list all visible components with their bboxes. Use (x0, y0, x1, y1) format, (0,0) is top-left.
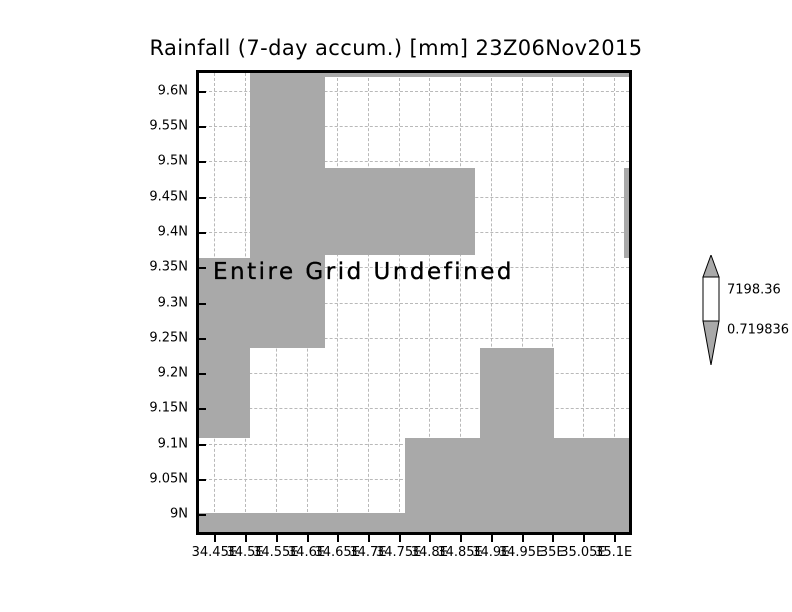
y-axis-tick-label: 9.55N (149, 118, 188, 133)
x-axis-tick (337, 535, 339, 542)
masked-cell-block (199, 258, 325, 348)
colorbar: 7198.36 0.719836 (698, 255, 792, 365)
y-axis-tick-label: 9.05N (149, 472, 188, 487)
y-axis-tick-label: 9.5N (158, 154, 188, 169)
y-axis-tick-label: 9.1N (158, 436, 188, 451)
gridline-horizontal (199, 373, 629, 374)
gridline-horizontal (199, 408, 629, 409)
masked-cell-block (199, 348, 250, 438)
y-axis-tick (199, 91, 206, 93)
plot-canvas: Entire Grid Undefined (199, 73, 629, 532)
y-axis-tick-label: 9.2N (158, 366, 188, 381)
y-axis-labels: 9.6N9.55N9.5N9.45N9.4N9.35N9.3N9.25N9.2N… (110, 70, 188, 535)
y-axis-tick (199, 303, 206, 305)
colorbar-high-label: 7198.36 (727, 283, 781, 298)
x-axis-tick (552, 535, 554, 542)
y-axis-tick-label: 9.3N (158, 295, 188, 310)
masked-cell-block (405, 438, 632, 532)
x-axis-tick (583, 535, 585, 542)
masked-cell-block (199, 513, 405, 532)
y-axis-tick (199, 444, 206, 446)
x-axis-tick (368, 535, 370, 542)
y-axis-tick (199, 373, 206, 375)
x-axis-tick-label: 35.1E (595, 545, 632, 560)
x-axis-tick-label: 34.95E (499, 545, 544, 560)
x-axis-ticks (196, 535, 632, 543)
masked-cell-block (480, 348, 554, 438)
x-axis-tick (491, 535, 493, 542)
y-axis-tick-label: 9.45N (149, 189, 188, 204)
page-title: Rainfall (7-day accum.) [mm] 23Z06Nov201… (0, 36, 792, 60)
y-axis-tick (199, 514, 206, 516)
y-axis-tick-label: 9.15N (149, 401, 188, 416)
x-axis-tick (276, 535, 278, 542)
y-axis-tick (199, 161, 206, 163)
masked-cell-block (624, 168, 632, 258)
x-axis-tick (245, 535, 247, 542)
y-axis-tick-label: 9.25N (149, 330, 188, 345)
y-axis-tick (199, 338, 206, 340)
x-axis-tick (429, 535, 431, 542)
x-axis-tick (307, 535, 309, 542)
masked-cell-block (325, 73, 632, 77)
y-axis-tick (199, 126, 206, 128)
colorbar-swatch-icon (698, 255, 724, 365)
y-axis-tick-label: 9.35N (149, 260, 188, 275)
y-axis-tick (199, 479, 206, 481)
masked-cell-block (325, 168, 475, 255)
y-axis-tick (199, 232, 206, 234)
x-axis-tick (522, 535, 524, 542)
x-axis-tick (214, 535, 216, 542)
y-axis-tick (199, 197, 206, 199)
x-axis-tick (460, 535, 462, 542)
y-axis-tick-label: 9N (170, 507, 188, 522)
x-axis-tick (614, 535, 616, 542)
y-axis-tick-label: 9.4N (158, 224, 188, 239)
y-axis-tick (199, 408, 206, 410)
x-axis-labels: 34.45E34.5E34.55E34.6E34.65E34.7E34.75E3… (196, 545, 632, 565)
y-axis-tick (199, 267, 206, 269)
colorbar-low-label: 0.719836 (727, 323, 789, 338)
x-axis-tick (399, 535, 401, 542)
y-axis-tick-label: 9.6N (158, 83, 188, 98)
plot-area: Entire Grid Undefined (196, 70, 632, 535)
